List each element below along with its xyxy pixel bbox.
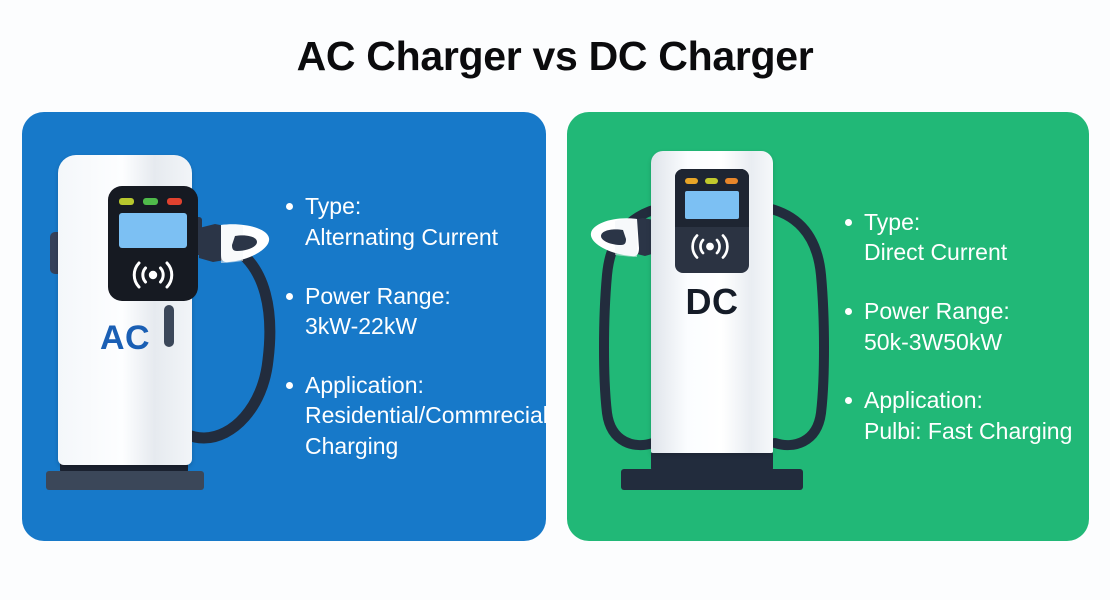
dc-spec-list: Type: Direct Current Power Range: 50k-3W… bbox=[839, 207, 1089, 446]
ac-status-led-1 bbox=[119, 198, 134, 205]
dc-charger-type-label: DC bbox=[651, 281, 773, 323]
bullet-dot-icon bbox=[286, 293, 293, 300]
dc-status-led-2 bbox=[705, 178, 718, 184]
ac-spec-label-application: Application: bbox=[305, 370, 546, 401]
ac-status-led-2 bbox=[143, 198, 158, 205]
dc-spec-label-type: Type: bbox=[864, 207, 1007, 238]
ac-base-slab bbox=[46, 471, 204, 490]
list-item: Application: Residential/Commrecial Char… bbox=[286, 370, 546, 462]
bullet-dot-icon bbox=[845, 308, 852, 315]
dc-spec-value-type: Direct Current bbox=[864, 237, 1007, 268]
ac-spec-value-type: Alternating Current bbox=[305, 222, 498, 253]
ac-spec-value-application: Residential/Commrecial Charging bbox=[305, 400, 546, 461]
ac-spec-label-type: Type: bbox=[305, 191, 498, 222]
dc-status-led-1 bbox=[685, 178, 698, 184]
comparison-card-ac: AC Type: Alternating Current Power Range… bbox=[22, 112, 546, 541]
dc-spec-value-application: Pulbi: Fast Charging bbox=[864, 416, 1072, 447]
ac-charger-type-label: AC bbox=[58, 319, 192, 358]
ac-control-panel bbox=[108, 186, 198, 301]
dc-status-led-3 bbox=[725, 178, 738, 184]
list-item: Power Range: 50k-3W50kW bbox=[845, 296, 1081, 357]
bullet-dot-icon bbox=[286, 382, 293, 389]
page-title: AC Charger vs DC Charger bbox=[0, 34, 1110, 79]
dc-rfid-wireless-icon bbox=[689, 231, 731, 262]
dc-lcd-screen bbox=[685, 191, 739, 219]
bullet-dot-icon bbox=[845, 397, 852, 404]
ac-connector-plug-icon bbox=[195, 220, 273, 266]
list-item: Power Range: 3kW-22kW bbox=[286, 281, 546, 342]
dc-base-slab bbox=[621, 469, 803, 490]
dc-spec-value-power-range: 50k-3W50kW bbox=[864, 327, 1010, 358]
bullet-dot-icon bbox=[845, 219, 852, 226]
dc-charging-station-illustration: DC bbox=[589, 147, 839, 507]
ac-spec-value-power-range: 3kW-22kW bbox=[305, 311, 451, 342]
dc-base-riser bbox=[651, 452, 773, 470]
list-item: Application: Pulbi: Fast Charging bbox=[845, 385, 1081, 446]
ac-spec-label-power-range: Power Range: bbox=[305, 281, 451, 312]
comparison-card-dc: DC Type: Direct Current Power Range: 50k… bbox=[567, 112, 1089, 541]
ac-charging-station-illustration: AC bbox=[30, 147, 280, 507]
ac-lcd-screen bbox=[119, 213, 187, 248]
list-item: Type: Direct Current bbox=[845, 207, 1081, 268]
ac-rfid-wireless-icon bbox=[130, 258, 176, 292]
bullet-dot-icon bbox=[286, 203, 293, 210]
ac-status-led-3 bbox=[167, 198, 182, 205]
dc-spec-label-application: Application: bbox=[864, 385, 1072, 416]
dc-display-housing bbox=[675, 169, 749, 227]
ac-spec-list: Type: Alternating Current Power Range: 3… bbox=[280, 191, 546, 461]
list-item: Type: Alternating Current bbox=[286, 191, 546, 252]
dc-spec-label-power-range: Power Range: bbox=[864, 296, 1010, 327]
